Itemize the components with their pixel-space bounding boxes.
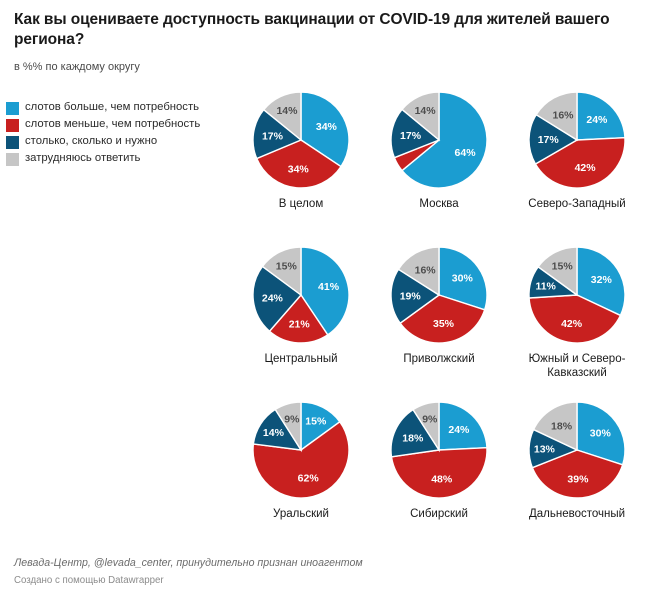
chart-legend: слотов больше, чем потребностьслотов мен…: [6, 100, 226, 168]
pie-chart-label: Южный и Северо-Кавказский: [509, 353, 645, 380]
pie-chart-7: 15%62%14%9%Уральский: [232, 398, 370, 548]
chart-subtitle: в %% по каждому округу: [14, 60, 633, 74]
pie-chart-grid: 34%34%17%14%В целом64%17%14%Москва24%42%…: [232, 88, 647, 548]
pie-chart-label: Северо-Западный: [509, 198, 645, 212]
legend-item-label: затрудняюсь ответить: [25, 153, 140, 164]
pie-slice-value: 42%: [561, 318, 583, 330]
pie-chart-label: Приволжский: [371, 353, 507, 367]
legend-item[interactable]: слотов больше, чем потребность: [6, 100, 226, 116]
pie-slice-value: 9%: [284, 413, 300, 425]
legend-item-label: слотов больше, чем потребность: [25, 102, 199, 113]
pie-svg: 30%39%13%18%: [509, 398, 645, 502]
pie-chart-2: 64%17%14%Москва: [370, 88, 508, 243]
pie-chart-6: 32%42%11%15%Южный и Северо-Кавказский: [508, 243, 646, 398]
pie-slice-value: 11%: [535, 280, 556, 292]
pie-chart-8: 24%48%18%9%Сибирский: [370, 398, 508, 548]
pie-slice-value: 64%: [455, 147, 477, 159]
pie-chart-label: Дальневосточный: [509, 508, 645, 522]
pie-slice-value: 30%: [590, 428, 612, 440]
pie-slice-value: 14%: [263, 427, 285, 439]
pie-slice-value: 16%: [415, 264, 437, 276]
pie-slice-value: 21%: [289, 318, 311, 330]
legend-swatch-icon: [6, 136, 19, 149]
pie-chart-label: Сибирский: [371, 508, 507, 522]
pie-chart-label: Москва: [371, 198, 507, 212]
pie-slice-value: 24%: [448, 424, 470, 436]
pie-slice-value: 19%: [400, 291, 422, 303]
pie-slice-value: 15%: [552, 261, 574, 273]
pie-chart-label: Уральский: [233, 508, 369, 522]
pie-chart-1: 34%34%17%14%В целом: [232, 88, 370, 243]
pie-chart-9: 30%39%13%18%Дальневосточный: [508, 398, 646, 548]
pie-chart-label: Центральный: [233, 353, 369, 367]
credit-note: Создано с помощью Datawrapper: [14, 574, 634, 588]
pie-slice-value: 34%: [316, 121, 338, 133]
pie-slice-value: 14%: [415, 105, 437, 117]
pie-svg: 24%48%18%9%: [371, 398, 507, 502]
legend-item-label: слотов меньше, чем потребность: [25, 119, 200, 130]
pie-slice-value: 16%: [552, 109, 574, 121]
pie-slice-value: 42%: [575, 162, 597, 174]
legend-item-label: столько, сколько и нужно: [25, 136, 157, 147]
legend-item[interactable]: столько, сколько и нужно: [6, 134, 226, 150]
pie-svg: 24%42%17%16%: [509, 88, 645, 192]
legend-item[interactable]: затрудняюсь ответить: [6, 151, 226, 167]
legend-swatch-icon: [6, 119, 19, 132]
chart-header: Как вы оцениваете доступность вакцинации…: [0, 0, 647, 74]
pie-slice-value: 39%: [567, 473, 589, 485]
pie-svg: 15%62%14%9%: [233, 398, 369, 502]
pie-slice-value: 41%: [318, 281, 340, 293]
legend-swatch-icon: [6, 102, 19, 115]
pie-chart-4: 41%21%24%15%Центральный: [232, 243, 370, 398]
pie-slice-value: 24%: [586, 114, 608, 126]
pie-chart-3: 24%42%17%16%Северо-Западный: [508, 88, 646, 243]
pie-slice-value: 48%: [431, 473, 453, 485]
pie-slice-value: 17%: [538, 134, 560, 146]
pie-slice-value: 15%: [276, 260, 298, 272]
pie-slice-value: 17%: [400, 130, 422, 142]
page-title: Как вы оцениваете доступность вакцинации…: [14, 10, 614, 51]
pie-slice-value: 32%: [591, 274, 613, 286]
pie-svg: 41%21%24%15%: [233, 243, 369, 347]
pie-slice-value: 15%: [305, 416, 327, 428]
legend-item[interactable]: слотов меньше, чем потребность: [6, 117, 226, 133]
pie-slice-value: 9%: [422, 413, 438, 425]
pie-svg: 32%42%11%15%: [509, 243, 645, 347]
pie-slice-value: 24%: [262, 293, 284, 305]
pie-chart-label: В целом: [233, 198, 369, 212]
pie-svg: 30%35%19%16%: [371, 243, 507, 347]
pie-slice-value: 34%: [288, 163, 310, 175]
chart-page: Как вы оцениваете доступность вакцинации…: [0, 0, 647, 600]
pie-slice-value: 30%: [452, 273, 474, 285]
legend-swatch-icon: [6, 153, 19, 166]
pie-slice-value: 35%: [433, 318, 455, 330]
pie-slice-value: 14%: [276, 105, 298, 117]
source-note: Левада-Центр, @levada_center, принудител…: [14, 556, 634, 571]
pie-slice-value: 18%: [402, 433, 424, 445]
pie-slice-value: 18%: [551, 420, 573, 432]
pie-slice-value: 17%: [262, 131, 284, 143]
chart-footer: Левада-Центр, @levada_center, принудител…: [14, 556, 634, 588]
pie-chart-5: 30%35%19%16%Приволжский: [370, 243, 508, 398]
pie-svg: 34%34%17%14%: [233, 88, 369, 192]
pie-slice-value: 62%: [298, 473, 320, 485]
pie-slice-value: 13%: [534, 444, 556, 456]
pie-svg: 64%17%14%: [371, 88, 507, 192]
